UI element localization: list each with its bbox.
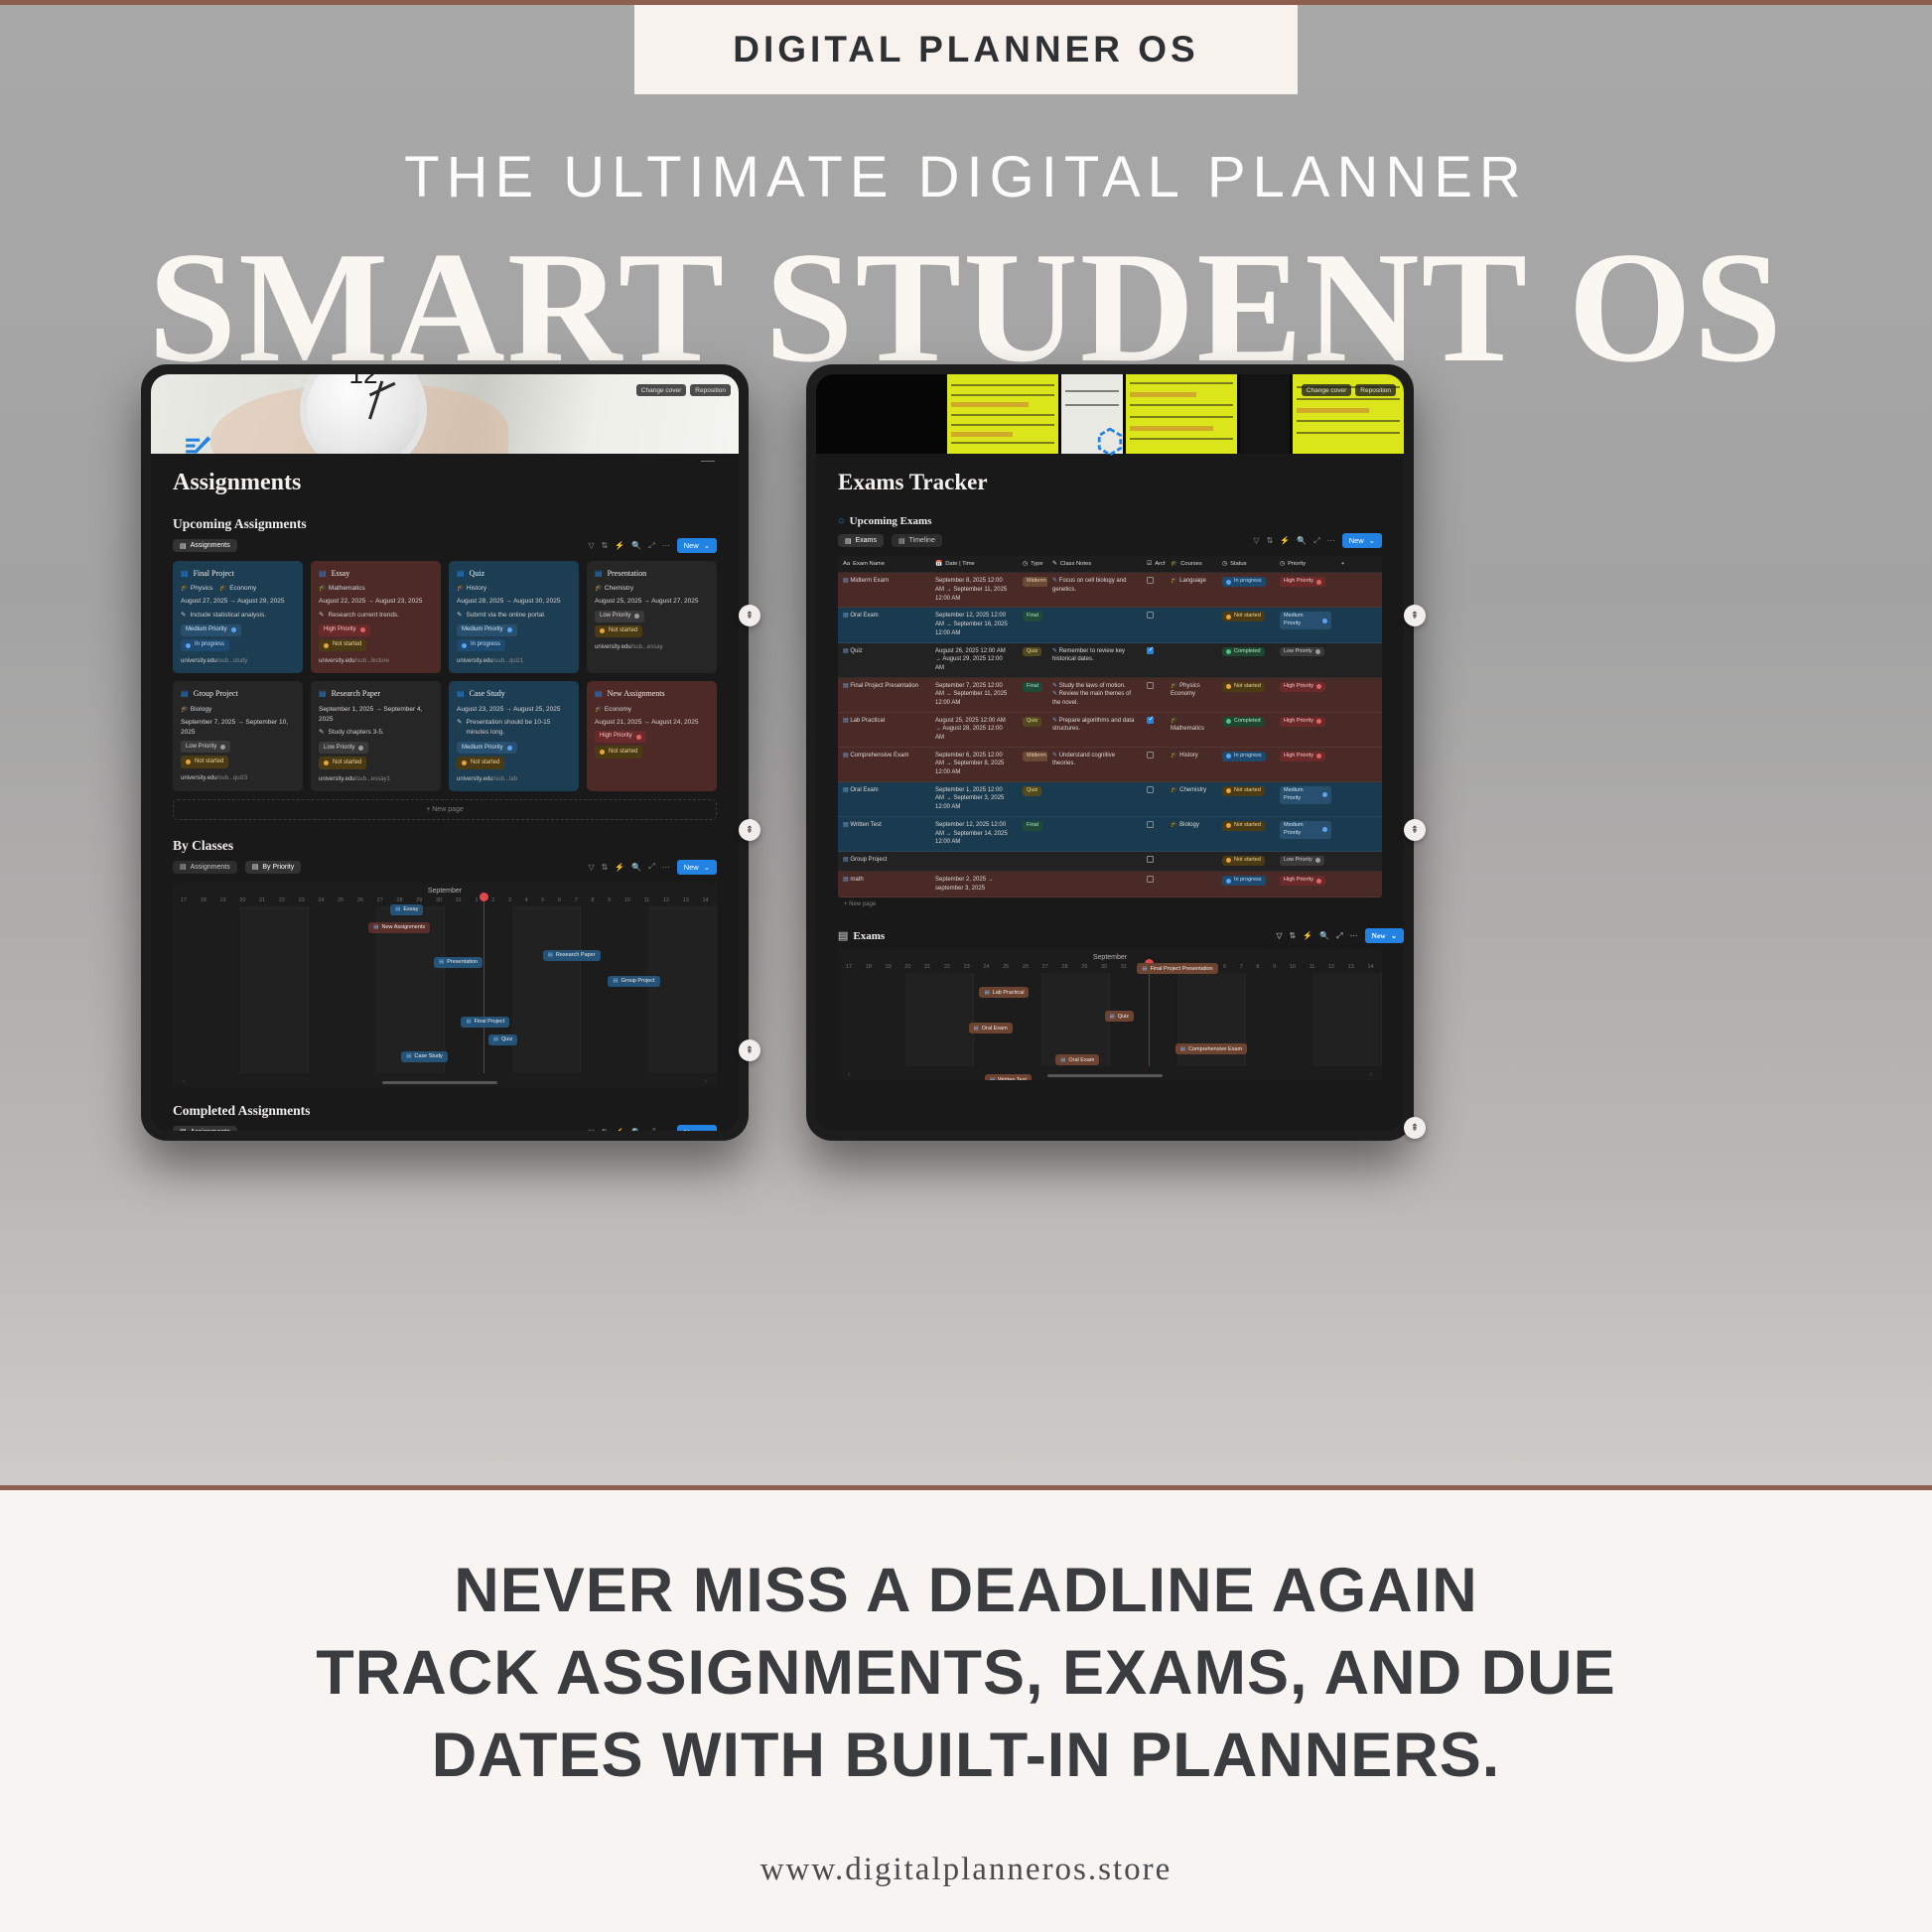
tagline-line-2: TRACK ASSIGNMENTS, EXAMS, AND DUE bbox=[0, 1632, 1932, 1715]
assignment-card[interactable]: ▤Case StudyAugust 23, 2025 → August 25, … bbox=[449, 681, 579, 790]
card-note: ✎Submit via the online portal. bbox=[457, 611, 571, 621]
more-icon[interactable]: ⋯ bbox=[662, 863, 670, 872]
card-url[interactable]: university.edu/sub...quiz1 bbox=[457, 657, 571, 666]
reposition-button[interactable]: Reposition bbox=[690, 384, 731, 396]
lightning-icon[interactable]: ⚡ bbox=[615, 863, 624, 872]
pencil-icon: ✎ bbox=[1052, 691, 1057, 697]
timeline-item[interactable]: ▤Final Project bbox=[461, 1017, 509, 1028]
row-actions-cell[interactable] bbox=[1336, 817, 1354, 851]
day-tick: 9 bbox=[1273, 964, 1276, 970]
new-page-button[interactable]: New ⌄ bbox=[1365, 928, 1404, 943]
left-cover-buttons[interactable]: Change cover Reposition bbox=[636, 384, 731, 396]
assignment-card[interactable]: ▤New Assignments🎓 EconomyAugust 21, 2025… bbox=[587, 681, 717, 790]
archive-checkbox[interactable] bbox=[1147, 752, 1154, 759]
type-badge: Final bbox=[1023, 612, 1042, 621]
exams-new-page-button[interactable]: + New page bbox=[838, 897, 1382, 911]
assignments-source-chip[interactable]: ▤ Assignments bbox=[173, 539, 237, 552]
header-label: Exam Name bbox=[853, 560, 885, 568]
timeline-day-ticks: 1718192021222324252627282930311234567891… bbox=[838, 961, 1382, 970]
change-cover-button[interactable]: Change cover bbox=[1302, 384, 1351, 396]
archive-checkbox[interactable] bbox=[1147, 856, 1154, 863]
archive-checkbox[interactable] bbox=[1147, 717, 1154, 724]
day-tick: 13 bbox=[1348, 964, 1354, 970]
archive-checkbox[interactable] bbox=[1147, 876, 1154, 883]
pencil-icon: ✎ bbox=[181, 611, 186, 621]
exam-name-cell[interactable]: ▤ Group Project bbox=[838, 852, 930, 871]
table-row[interactable]: ▤ Oral ExamSeptember 1, 2025 12:00 AM → … bbox=[838, 782, 1382, 817]
status-badge: In progress bbox=[1222, 752, 1266, 761]
exam-name-cell[interactable]: ▤ Final Project Presentation bbox=[838, 678, 930, 712]
row-actions-cell[interactable] bbox=[1336, 748, 1354, 781]
type-badge: Final bbox=[1023, 821, 1042, 831]
timeline-chip[interactable]: ▤ Timeline bbox=[892, 534, 942, 547]
new-page-button[interactable]: New ⌄ bbox=[677, 538, 717, 553]
expand-icon[interactable]: ⤢ bbox=[1336, 931, 1342, 941]
day-tick: 31 bbox=[1121, 964, 1127, 970]
header-label: Type bbox=[1031, 560, 1043, 568]
course-cell: 🎓 Chemistry bbox=[1166, 782, 1217, 816]
lightning-icon[interactable]: ⚡ bbox=[615, 1128, 624, 1131]
right-tablet-device: Change cover Reposition Exams Tracker ○ … bbox=[806, 364, 1414, 1141]
right-page-body: Exams Tracker ○ Upcoming Exams ▤ Exams ▤… bbox=[816, 454, 1404, 1080]
left-cover-image: 12 Change cover Reposition bbox=[151, 374, 739, 454]
page-icon: ▤ bbox=[457, 568, 465, 580]
priority-badge: High Priority bbox=[1280, 577, 1325, 587]
sort-icon[interactable]: ⇅ bbox=[602, 863, 609, 872]
more-icon[interactable]: ⋯ bbox=[662, 541, 670, 550]
timeline-column bbox=[838, 973, 906, 1066]
column-header[interactable]: 🎓Courses bbox=[1166, 556, 1217, 572]
new-button-label: New bbox=[684, 541, 699, 550]
priority-badge: High Priority bbox=[1280, 876, 1325, 886]
timeline-icon: ▤ bbox=[898, 537, 905, 545]
archive-checkbox[interactable] bbox=[1147, 682, 1154, 689]
status-badge: Not started bbox=[319, 639, 366, 651]
exam-name-cell[interactable]: ▤ math bbox=[838, 872, 930, 897]
upcoming-assignments-heading: Upcoming Assignments bbox=[173, 516, 717, 532]
exam-type-cell: Midterm bbox=[1018, 748, 1047, 781]
add-new-page-button[interactable]: + New page bbox=[173, 799, 717, 820]
page-icon: ▤ bbox=[595, 688, 603, 700]
upcoming-view-toolbar[interactable]: ▽ ⇅ ⚡ 🔍 ⤢ ⋯ New ⌄ bbox=[588, 538, 717, 553]
new-page-button[interactable]: New ⌄ bbox=[1342, 533, 1382, 548]
page-icon: ▤ bbox=[181, 688, 189, 700]
add-column-button[interactable]: + bbox=[1336, 556, 1354, 572]
priority-cell: High Priority bbox=[1275, 872, 1336, 897]
day-tick: 22 bbox=[279, 897, 285, 903]
column-header[interactable]: ☑Archive... bbox=[1142, 556, 1166, 572]
exam-date-cell: August 26, 2025 12:00 AM → August 29, 20… bbox=[930, 643, 1018, 677]
card-title: ▤Essay bbox=[319, 568, 433, 580]
column-header[interactable]: ◷Type bbox=[1018, 556, 1047, 572]
priority-badge: Low Priority bbox=[181, 741, 230, 753]
class-notes-cell: ✎ Prepare algorithms and data structures… bbox=[1047, 713, 1142, 747]
archive-checkbox[interactable] bbox=[1147, 786, 1154, 793]
search-icon[interactable]: 🔍 bbox=[1297, 536, 1307, 545]
header-label: Courses bbox=[1180, 560, 1202, 568]
filter-icon[interactable]: ▽ bbox=[588, 1128, 594, 1131]
completed-view-toolbar[interactable]: ▽ ⇅ ⚡ 🔍 ⤢ ⋯ New ⌄ bbox=[588, 1125, 717, 1131]
exam-name-cell[interactable]: ▤ Quiz bbox=[838, 643, 930, 677]
class-note: ✎ Review the main themes of the novel. bbox=[1052, 690, 1137, 707]
new-page-label: New page bbox=[432, 806, 464, 813]
more-icon[interactable]: ⋯ bbox=[1350, 931, 1358, 940]
table-row[interactable]: ▤ Written TestSeptember 12, 2025 12:00 A… bbox=[838, 817, 1382, 852]
circle-icon: ○ bbox=[838, 515, 845, 527]
archive-checkbox[interactable] bbox=[1147, 821, 1154, 828]
exams-timeline[interactable]: September 171819202122232425262728293031… bbox=[838, 949, 1382, 1080]
archived-cell[interactable] bbox=[1142, 608, 1166, 641]
more-icon[interactable]: ⋯ bbox=[1327, 536, 1335, 545]
item-icon: ▤ bbox=[373, 924, 378, 930]
sort-icon[interactable]: ⇅ bbox=[1267, 536, 1274, 545]
priority-badge: Medium Priority bbox=[181, 624, 241, 636]
item-icon: ▤ bbox=[613, 978, 618, 984]
completed-source-chip[interactable]: ▤ Assignments bbox=[173, 1126, 237, 1131]
day-tick: 17 bbox=[846, 964, 852, 970]
card-url[interactable]: university.edu/sub...quiz3 bbox=[181, 774, 295, 783]
status-badge: Completed bbox=[1222, 717, 1265, 727]
column-header[interactable]: 📅Date | Time bbox=[930, 556, 1018, 572]
filter-icon[interactable]: ▽ bbox=[588, 541, 594, 550]
day-tick: 8 bbox=[1256, 964, 1259, 970]
day-tick: 25 bbox=[338, 897, 344, 903]
item-icon: ▤ bbox=[1180, 1046, 1185, 1052]
new-button-label: New bbox=[1372, 931, 1386, 940]
day-tick: 20 bbox=[239, 897, 245, 903]
archived-cell[interactable] bbox=[1142, 713, 1166, 747]
filter-icon[interactable]: ▽ bbox=[588, 863, 594, 872]
page-icon: ▤ bbox=[843, 822, 849, 828]
card-note: ✎Research current trends. bbox=[319, 611, 433, 621]
table-row[interactable]: ▤ Oral ExamSeptember 12, 2025 12:00 AM →… bbox=[838, 608, 1382, 642]
board-icon: ▤ bbox=[252, 863, 259, 871]
by-classes-heading: By Classes bbox=[173, 838, 717, 854]
filter-icon[interactable]: ▽ bbox=[1276, 931, 1282, 940]
status-badge: Not started bbox=[1222, 612, 1265, 621]
timeline-column bbox=[1042, 973, 1111, 1066]
status-cell: Completed bbox=[1217, 643, 1275, 677]
exams-timeline-toolbar[interactable]: ▽ ⇅ ⚡ 🔍 ⤢ ⋯ New ⌄ bbox=[1276, 928, 1404, 943]
status-badge: Not started bbox=[457, 757, 504, 768]
priority-cell: Medium Priority bbox=[1275, 817, 1336, 851]
timeline-scrollbar[interactable]: ‹› bbox=[183, 1081, 707, 1084]
sort-icon[interactable]: ⇅ bbox=[602, 1128, 609, 1131]
card-title: ▤Presentation bbox=[595, 568, 709, 580]
timeline-item[interactable]: ▤Lab Practical bbox=[979, 987, 1029, 998]
day-tick: 27 bbox=[377, 897, 383, 903]
exam-name-cell[interactable]: ▤ Comprehensive Exam bbox=[838, 748, 930, 781]
filter-icon[interactable]: ▽ bbox=[1253, 536, 1259, 545]
by-classes-chip-assignments[interactable]: ▤ Assignments bbox=[173, 861, 237, 874]
day-tick: 28 bbox=[1061, 964, 1067, 970]
expand-icon[interactable]: ⤢ bbox=[648, 1127, 654, 1131]
row-actions-cell[interactable] bbox=[1336, 643, 1354, 677]
table-row[interactable]: ▤ mathSeptember 2, 2025 → september 3, 2… bbox=[838, 872, 1382, 897]
day-tick: 24 bbox=[983, 964, 989, 970]
search-icon[interactable]: 🔍 bbox=[631, 1128, 641, 1131]
status-badge: In progress bbox=[1222, 577, 1266, 587]
assignment-card[interactable]: ▤Essay🎓 MathematicsAugust 22, 2025 → Aug… bbox=[311, 561, 441, 673]
header-icon: 🎓 bbox=[1171, 560, 1177, 568]
class-notes-cell: ✎ Remember to review key historical date… bbox=[1047, 643, 1142, 677]
header-icon: ☑ bbox=[1147, 560, 1152, 568]
exams-timeline-section: ▤ Exams ▽ ⇅ ⚡ 🔍 ⤢ ⋯ New bbox=[838, 929, 1382, 1080]
assignment-card[interactable]: ▤Research PaperSeptember 1, 2025 → Septe… bbox=[311, 681, 441, 790]
priority-badge: Low Priority bbox=[1280, 856, 1324, 866]
class-note: ✎ Remember to review key historical date… bbox=[1052, 647, 1137, 664]
header-icon: ◷ bbox=[1023, 560, 1028, 568]
new-page-button[interactable]: New ⌄ bbox=[677, 1125, 717, 1131]
change-cover-button[interactable]: Change cover bbox=[636, 384, 686, 396]
table-row[interactable]: ▤ Comprehensive ExamSeptember 6, 2025 12… bbox=[838, 748, 1382, 782]
chip-label: Exams bbox=[856, 537, 877, 544]
exams-hexagon-icon bbox=[1097, 428, 1123, 456]
page-icon: ▤ bbox=[595, 568, 603, 580]
item-icon: ▤ bbox=[990, 1077, 995, 1081]
exam-date-cell: September 8, 2025 12:00 AM → September 1… bbox=[930, 573, 1018, 607]
exam-name-cell[interactable]: ▤ Oral Exam bbox=[838, 608, 930, 641]
card-title: ▤Case Study bbox=[457, 688, 571, 700]
card-dates: August 27, 2025 → August 29, 2025 bbox=[181, 597, 295, 607]
collapse-icon[interactable]: — bbox=[701, 452, 715, 468]
column-header[interactable]: ◷Priority bbox=[1275, 556, 1336, 572]
archived-cell[interactable] bbox=[1142, 872, 1166, 897]
class-note: ✎ Focus on cell biology and genetics. bbox=[1052, 577, 1137, 594]
chip-label: Assignments bbox=[191, 864, 230, 871]
table-row[interactable]: ▤ Group Project Not startedLow Priority bbox=[838, 852, 1382, 872]
archived-cell[interactable] bbox=[1142, 748, 1166, 781]
exam-date-cell: September 12, 2025 12:00 AM → September … bbox=[930, 817, 1018, 851]
search-icon[interactable]: 🔍 bbox=[631, 541, 641, 550]
timeline-item[interactable]: ▤Research Paper bbox=[543, 950, 601, 961]
timeline-column bbox=[906, 973, 975, 1066]
class-note: ✎ Understand cognitive theories. bbox=[1052, 752, 1137, 768]
more-icon[interactable]: ⋯ bbox=[662, 1128, 670, 1131]
scroll-hint-icon-3: ⇞ bbox=[739, 1039, 760, 1061]
new-page-button[interactable]: New ⌄ bbox=[677, 860, 717, 875]
card-note: ✎Study chapters 3-5. bbox=[319, 728, 433, 738]
type-badge: Quiz bbox=[1023, 717, 1041, 727]
expand-icon[interactable]: ⤢ bbox=[648, 541, 654, 551]
exams-chip[interactable]: ▤ Exams bbox=[838, 534, 884, 547]
card-url[interactable]: university.edu/sub...essay1 bbox=[319, 775, 433, 784]
lightning-icon[interactable]: ⚡ bbox=[1303, 931, 1312, 940]
archived-cell[interactable] bbox=[1142, 643, 1166, 677]
timeline-scrollbar[interactable]: ‹› bbox=[848, 1074, 1372, 1077]
exam-name-cell[interactable]: ▤ Written Test bbox=[838, 817, 930, 851]
page-icon: ▤ bbox=[843, 613, 849, 619]
scroll-hint-icon-1: ⇞ bbox=[1404, 605, 1426, 626]
exams-view-toolbar[interactable]: ▽ ⇅ ⚡ 🔍 ⤢ ⋯ New ⌄ bbox=[1253, 533, 1382, 548]
page-icon: ▤ bbox=[843, 787, 849, 793]
priority-cell: High Priority bbox=[1275, 748, 1336, 781]
timeline-item[interactable]: ▤Comprehensive Exam bbox=[1175, 1043, 1247, 1054]
item-icon: ▤ bbox=[974, 1026, 979, 1032]
timeline-item[interactable]: ▤Presentation bbox=[434, 957, 483, 968]
day-tick: 11 bbox=[1310, 964, 1315, 970]
day-tick: 8 bbox=[591, 897, 594, 903]
assignment-card[interactable]: ▤Final Project🎓 Physics🎓 EconomyAugust 2… bbox=[173, 561, 303, 673]
card-dates: September 7, 2025 → September 10, 2025 bbox=[181, 718, 295, 738]
by-classes-view-toolbar[interactable]: ▽ ⇅ ⚡ 🔍 ⤢ ⋯ New ⌄ bbox=[588, 860, 717, 875]
column-header[interactable]: ✎Class Notes bbox=[1047, 556, 1142, 572]
day-tick: 2 bbox=[491, 897, 494, 903]
day-tick: 18 bbox=[866, 964, 872, 970]
card-url[interactable]: university.edu/sub...lecture bbox=[319, 657, 433, 666]
archived-cell[interactable] bbox=[1142, 573, 1166, 607]
timeline-item[interactable]: ▤Final Project Presentation bbox=[1137, 963, 1217, 974]
timeline-item[interactable]: ▤Oral Exam bbox=[969, 1023, 1013, 1034]
day-tick: 30 bbox=[1101, 964, 1107, 970]
archive-checkbox[interactable] bbox=[1147, 647, 1154, 654]
table-row[interactable]: ▤ Midterm ExamSeptember 8, 2025 12:00 AM… bbox=[838, 573, 1382, 608]
database-icon: ▤ bbox=[180, 542, 187, 550]
column-header[interactable]: AaExam Name bbox=[838, 556, 930, 572]
row-actions-cell[interactable] bbox=[1336, 678, 1354, 712]
page-icon: ▤ bbox=[843, 648, 849, 654]
class-notes-cell bbox=[1047, 852, 1142, 871]
archived-cell[interactable] bbox=[1142, 817, 1166, 851]
card-title: ▤Group Project bbox=[181, 688, 295, 700]
table-row[interactable]: ▤ Lab PracticalAugust 25, 2025 12:00 AM … bbox=[838, 713, 1382, 748]
timeline-item[interactable]: ▤Case Study bbox=[401, 1051, 448, 1062]
left-page-body: Assignments — Upcoming Assignments ▤ Ass… bbox=[151, 454, 739, 1131]
lightning-icon[interactable]: ⚡ bbox=[615, 541, 624, 550]
exam-name-cell[interactable]: ▤ Midterm Exam bbox=[838, 573, 930, 607]
exam-name-cell[interactable]: ▤ Oral Exam bbox=[838, 782, 930, 816]
assignment-card[interactable]: ▤Group Project🎓 BiologySeptember 7, 2025… bbox=[173, 681, 303, 790]
chevron-down-icon: ⌄ bbox=[704, 863, 710, 872]
exam-name-cell[interactable]: ▤ Lab Practical bbox=[838, 713, 930, 747]
item-icon: ▤ bbox=[548, 952, 553, 958]
today-marker-line bbox=[483, 893, 484, 1073]
day-tick: 3 bbox=[508, 897, 511, 903]
exam-type-cell: Quiz bbox=[1018, 782, 1047, 816]
item-icon: ▤ bbox=[1142, 966, 1147, 972]
new-button-label: New bbox=[684, 863, 699, 872]
status-cell: Not started bbox=[1217, 817, 1275, 851]
card-courses: 🎓 History bbox=[457, 584, 571, 594]
search-icon[interactable]: 🔍 bbox=[631, 863, 641, 872]
course-tag: 🎓 Physics bbox=[181, 584, 212, 594]
course-cell: 🎓 Language bbox=[1166, 573, 1217, 607]
day-tick: 10 bbox=[624, 897, 630, 903]
priority-cell: Low Priority bbox=[1275, 643, 1336, 677]
assignment-card[interactable]: ▤Quiz🎓 HistoryAugust 28, 2025 → August 3… bbox=[449, 561, 579, 673]
exam-type-cell: Quiz bbox=[1018, 643, 1047, 677]
card-url[interactable]: university.edu/sub...essay bbox=[595, 643, 709, 652]
search-icon[interactable]: 🔍 bbox=[1319, 931, 1329, 940]
course-cell: 🎓 Physics Economy bbox=[1166, 678, 1217, 712]
timeline-item[interactable]: ▤New Assignments bbox=[368, 922, 430, 933]
priority-cell: High Priority bbox=[1275, 678, 1336, 712]
card-dates: August 22, 2025 → August 23, 2025 bbox=[319, 597, 433, 607]
timeline-item[interactable]: ▤Quiz bbox=[1105, 1011, 1135, 1022]
table-row[interactable]: ▤ Final Project PresentationSeptember 7,… bbox=[838, 678, 1382, 713]
day-tick: 7 bbox=[1240, 964, 1243, 970]
today-marker-dot bbox=[480, 893, 488, 901]
new-page-label: New page bbox=[849, 901, 876, 907]
assignments-page-icon bbox=[185, 434, 212, 462]
card-title: ▤New Assignments bbox=[595, 688, 709, 700]
item-label: Oral Exam bbox=[982, 1026, 1008, 1032]
priority-cell: Medium Priority bbox=[1275, 608, 1336, 641]
header-icon: ◷ bbox=[1222, 560, 1227, 568]
timeline-item[interactable]: ▤Oral Exam bbox=[1055, 1054, 1099, 1065]
row-actions-cell[interactable] bbox=[1336, 713, 1354, 747]
pencil-icon: ✎ bbox=[319, 611, 324, 621]
course-cell: 🎓 Mathematics bbox=[1166, 713, 1217, 747]
archived-cell[interactable] bbox=[1142, 678, 1166, 712]
assignment-card-grid: ▤Final Project🎓 Physics🎓 EconomyAugust 2… bbox=[173, 561, 717, 791]
card-url[interactable]: university.edu/sub...study bbox=[181, 657, 295, 666]
day-tick: 24 bbox=[318, 897, 324, 903]
pencil-icon: ✎ bbox=[457, 718, 462, 738]
chip-label: Timeline bbox=[909, 537, 935, 544]
day-tick: 27 bbox=[1042, 964, 1048, 970]
reposition-button[interactable]: Reposition bbox=[1355, 384, 1396, 396]
row-actions-cell[interactable] bbox=[1336, 872, 1354, 897]
by-classes-chip-by-priority[interactable]: ▤ By Priority bbox=[245, 861, 302, 874]
sort-icon[interactable]: ⇅ bbox=[602, 541, 609, 550]
column-header[interactable]: ◷Status bbox=[1217, 556, 1275, 572]
status-cell: Not started bbox=[1217, 782, 1275, 816]
row-actions-cell[interactable] bbox=[1336, 608, 1354, 641]
assignment-card[interactable]: ▤Presentation🎓 ChemistryAugust 25, 2025 … bbox=[587, 561, 717, 673]
expand-icon[interactable]: ⤢ bbox=[648, 862, 654, 872]
scroll-hint-icon-1: ⇞ bbox=[739, 605, 760, 626]
classes-timeline[interactable]: September 171819202122232425262728293031… bbox=[173, 883, 717, 1087]
timeline-month-label: September bbox=[838, 949, 1382, 961]
assignments-chip-label: Assignments bbox=[191, 542, 230, 549]
right-cover-buttons[interactable]: Change cover Reposition bbox=[1302, 384, 1396, 396]
card-url[interactable]: university.edu/sub...lab bbox=[457, 775, 571, 784]
row-actions-cell[interactable] bbox=[1336, 852, 1354, 871]
day-tick: 17 bbox=[181, 897, 187, 903]
expand-icon[interactable]: ⤢ bbox=[1313, 536, 1319, 546]
row-actions-cell[interactable] bbox=[1336, 782, 1354, 816]
page-icon: ▤ bbox=[319, 688, 327, 700]
exams-toolbar-row: ▤ Exams ▤ Timeline ▽ ⇅ ⚡ 🔍 ⤢ bbox=[838, 534, 1382, 547]
archived-cell[interactable] bbox=[1142, 852, 1166, 871]
day-tick: 25 bbox=[1003, 964, 1009, 970]
archived-cell[interactable] bbox=[1142, 782, 1166, 816]
timeline-item[interactable]: ▤Group Project bbox=[608, 976, 659, 987]
course-tag: 🎓 Mathematics bbox=[319, 584, 365, 594]
item-label: Presentation bbox=[447, 959, 478, 965]
day-tick: 22 bbox=[944, 964, 950, 970]
timeline-grid bbox=[173, 906, 717, 1073]
exam-date-cell: September 7, 2025 12:00 AM → September 1… bbox=[930, 678, 1018, 712]
table-row[interactable]: ▤ QuizAugust 26, 2025 12:00 AM → August … bbox=[838, 643, 1382, 678]
timeline-item[interactable]: ▤Quiz bbox=[488, 1035, 518, 1045]
row-actions-cell[interactable] bbox=[1336, 573, 1354, 607]
pencil-icon: ✎ bbox=[1052, 683, 1057, 689]
archive-checkbox[interactable] bbox=[1147, 612, 1154, 619]
sort-icon[interactable]: ⇅ bbox=[1289, 931, 1296, 940]
page-icon: ▤ bbox=[843, 578, 849, 584]
timeline-item[interactable]: ▤Essay bbox=[390, 904, 423, 915]
priority-badge: Low Priority bbox=[319, 742, 368, 754]
class-note: ✎ Prepare algorithms and data structures… bbox=[1052, 717, 1137, 734]
lightning-icon[interactable]: ⚡ bbox=[1280, 536, 1290, 545]
new-button-label: New bbox=[1349, 536, 1364, 545]
item-label: Essay bbox=[403, 906, 418, 912]
chevron-down-icon: ⌄ bbox=[1369, 536, 1375, 545]
archive-checkbox[interactable] bbox=[1147, 577, 1154, 584]
header-icon: 📅 bbox=[935, 560, 942, 568]
